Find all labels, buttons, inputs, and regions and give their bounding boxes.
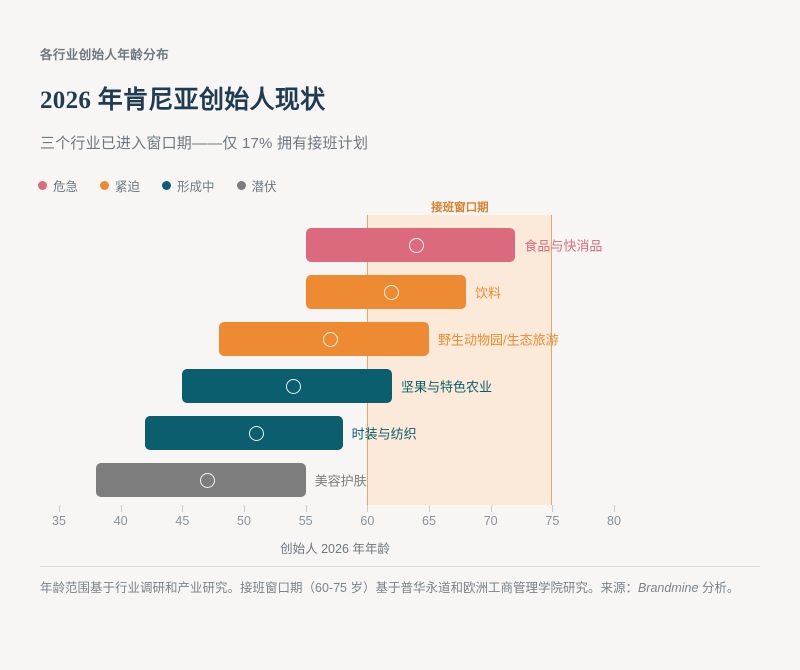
- axis-tick: [306, 505, 307, 512]
- axis-tick-label: 70: [484, 514, 498, 528]
- footnote-part1: 年龄范围基于行业调研和产业研究。接班窗口期（60-75 岁）基于普华永道和欧洲工…: [40, 581, 638, 595]
- axis-tick: [121, 505, 122, 512]
- x-axis-label: 创始人 2026 年年龄: [0, 538, 670, 557]
- axis-tick-label: 45: [175, 514, 189, 528]
- median-marker-icon: [409, 238, 424, 253]
- axis-tick-label: 65: [422, 514, 436, 528]
- axis-tick-label: 55: [299, 514, 313, 528]
- footnote: 年龄范围基于行业调研和产业研究。接班窗口期（60-75 岁）基于普华永道和欧洲工…: [40, 578, 766, 600]
- axis-tick-label: 80: [607, 514, 621, 528]
- axis-tick: [244, 505, 245, 512]
- footnote-source: Brandmine: [638, 581, 698, 595]
- axis-tick-label: 75: [545, 514, 559, 528]
- axis-tick: [429, 505, 430, 512]
- bar-category-label: 食品与快消品: [524, 236, 602, 255]
- axis-tick: [182, 505, 183, 512]
- axis-tick-label: 35: [52, 514, 66, 528]
- median-marker-icon: [323, 332, 338, 347]
- bar-category-label: 时装与纺织: [352, 424, 417, 443]
- median-marker-icon: [384, 285, 399, 300]
- x-axis-label-text: 创始人 2026 年年龄: [280, 542, 390, 556]
- axis-tick: [614, 505, 615, 512]
- axis-tick-label: 50: [237, 514, 251, 528]
- range-bar[interactable]: [219, 322, 429, 356]
- plot-area: 接班窗口期食品与快消品饮料野生动物园/生态旅游坚果与特色农业时装与纺织美容护肤3…: [0, 0, 800, 670]
- median-marker-icon: [200, 473, 215, 488]
- range-bar[interactable]: [182, 369, 392, 403]
- footnote-part2: 分析。: [698, 581, 739, 595]
- range-bar[interactable]: [145, 416, 342, 450]
- axis-tick-label: 40: [114, 514, 128, 528]
- chart-page: 各行业创始人年龄分布 2026 年肯尼亚创始人现状 三个行业已进入窗口期——仅 …: [0, 0, 800, 670]
- axis-tick: [552, 505, 553, 512]
- bar-category-label: 饮料: [475, 283, 501, 302]
- bar-category-label: 坚果与特色农业: [401, 377, 492, 396]
- range-bar[interactable]: [306, 275, 466, 309]
- range-bar[interactable]: [306, 228, 516, 262]
- axis-tick-label: 60: [360, 514, 374, 528]
- axis-tick: [59, 505, 60, 512]
- median-marker-icon: [286, 379, 301, 394]
- axis-tick: [491, 505, 492, 512]
- bar-category-label: 美容护肤: [315, 471, 367, 490]
- footnote-divider: [40, 566, 760, 567]
- axis-tick: [367, 505, 368, 512]
- range-bar[interactable]: [96, 463, 306, 497]
- succession-window-label: 接班窗口期: [431, 199, 489, 215]
- median-marker-icon: [249, 426, 264, 441]
- bar-category-label: 野生动物园/生态旅游: [438, 330, 559, 349]
